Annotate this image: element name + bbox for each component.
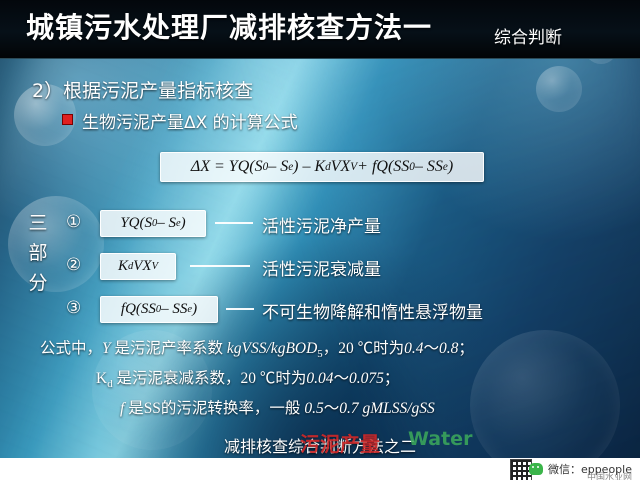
- subheading: 生物污泥产量ΔX 的计算公式: [82, 108, 298, 133]
- wechat-sub-label: 中国水业网: [587, 470, 632, 480]
- item-number-3: ③: [66, 298, 81, 318]
- page-title: 城镇污水处理厂减排核查方法一: [26, 6, 432, 46]
- note-line-3: f 是SS的污泥转换率，一般 0.5～0.7 gMLSS/gSS: [120, 396, 435, 418]
- red-square-bullet-icon: [62, 114, 73, 125]
- item-connector-2: [190, 265, 250, 267]
- item-description-2: 活性污泥衰减量: [262, 255, 381, 280]
- item-expression-1: YQ(S0 – Se): [100, 210, 206, 237]
- item-expression-3: fQ(SS0 – SSe): [100, 296, 218, 323]
- section-heading: 2）根据污泥产量指标核查: [32, 76, 253, 103]
- slide: 城镇污水处理厂减排核查方法一 综合判断 2）根据污泥产量指标核查 生物污泥产量Δ…: [0, 0, 640, 480]
- title-bar: 城镇污水处理厂减排核查方法一 综合判断: [0, 0, 640, 59]
- item-number-1: ①: [66, 212, 81, 232]
- item-description-1: 活性污泥净产量: [262, 212, 381, 237]
- note-line-2: Kd 是污泥衰减系数，20 ℃时为0.04～0.075；: [96, 366, 399, 390]
- item-connector-3: [226, 308, 254, 310]
- item-connector-1: [215, 222, 253, 224]
- vertical-label-three-parts: 三部分: [26, 208, 50, 298]
- bubble-decoration: [536, 66, 582, 112]
- item-number-2: ②: [66, 255, 81, 275]
- watermark-red: 污泥产量: [300, 428, 380, 457]
- main-formula-box: ΔX = YQ(S0 – Se) – KdVXV + fQ(SS0 – SSe): [160, 152, 484, 182]
- note-line-1: 公式中，Y 是污泥产率系数 kgVSS/kgBOD5，20 ℃时为0.4～0.8…: [40, 336, 474, 360]
- bubble-decoration: [8, 196, 104, 292]
- watermark-green: Water: [408, 428, 472, 450]
- item-expression-2: KdVXV: [100, 253, 176, 280]
- page-subtitle: 综合判断: [494, 23, 562, 48]
- main-formula-text: ΔX = YQ(S0 – Se) – KdVXV + fQ(SS0 – SSe): [161, 153, 483, 181]
- wechat-icon: [529, 463, 543, 475]
- item-description-3: 不可生物降解和惰性悬浮物量: [262, 298, 483, 323]
